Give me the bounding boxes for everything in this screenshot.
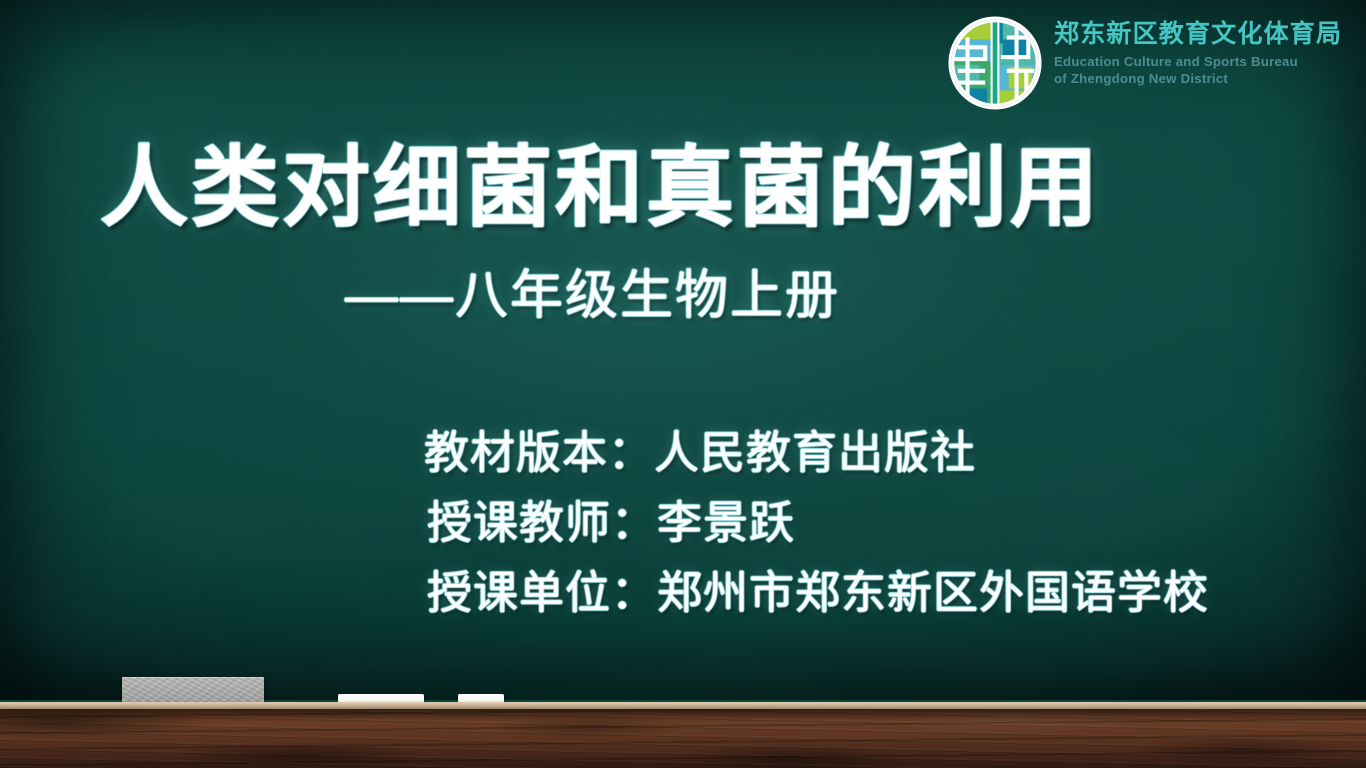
organization-name-cn: 郑东新区教育文化体育局 [1054, 20, 1342, 50]
zhengdong-bureau-emblem-icon [946, 14, 1044, 112]
chalk-tray-wood [0, 709, 1366, 768]
info-line-textbook: 教材版本：人民教育出版社 [424, 418, 1209, 488]
slide-title: 人类对细菌和真菌的利用 [100, 139, 1101, 238]
organization-name-en-line1: Education Culture and Sports Bureau [1054, 53, 1342, 70]
organization-logo: 郑东新区教育文化体育局 Education Culture and Sports… [946, 14, 1342, 112]
chalk-tray-lip [0, 702, 1366, 709]
organization-name-block: 郑东新区教育文化体育局 Education Culture and Sports… [1054, 14, 1342, 87]
organization-name-en: Education Culture and Sports Bureau of Z… [1054, 53, 1342, 88]
presentation-slide: 郑东新区教育文化体育局 Education Culture and Sports… [0, 0, 1366, 768]
info-line-teacher: 授课教师：李景跃 [424, 488, 1209, 558]
slide-subtitle: ——八年级生物上册 [345, 266, 840, 325]
info-line-school: 授课单位：郑州市郑东新区外国语学校 [424, 558, 1209, 628]
organization-name-en-line2: of Zhengdong New District [1054, 70, 1342, 87]
course-info-block: 教材版本：人民教育出版社 授课教师：李景跃 授课单位：郑州市郑东新区外国语学校 [424, 418, 1209, 629]
